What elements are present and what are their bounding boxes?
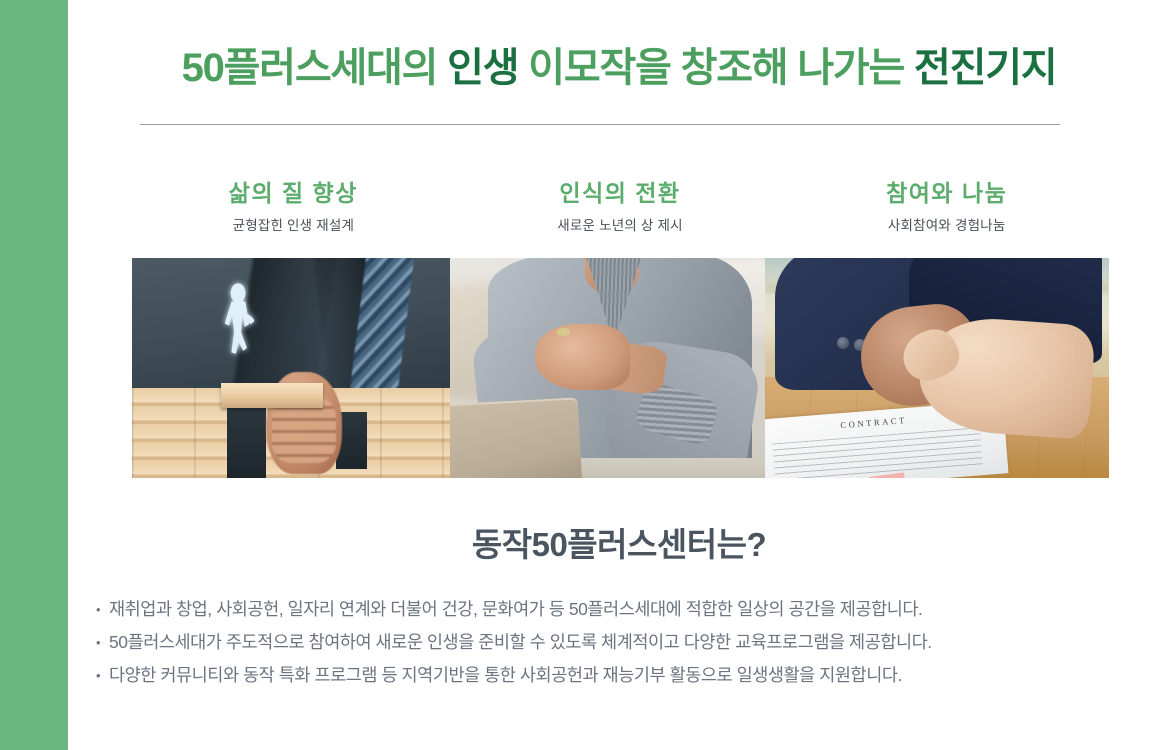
jacket-button: [837, 337, 849, 349]
left-accent-rail: [0, 0, 68, 750]
title-segment-4: 전진기지: [914, 46, 1056, 90]
wall-gap-left: [227, 408, 265, 478]
title-divider: [140, 124, 1060, 125]
about-heading: 동작50플러스센터는?: [68, 518, 1170, 566]
bullet-marker-icon: •: [96, 593, 109, 626]
laptop-screen: [450, 397, 581, 478]
bullet-marker-icon: •: [96, 626, 109, 659]
pillar-subtitle: 사회참여와 경험나눔: [783, 214, 1110, 234]
photo-perception-shift: [450, 258, 765, 478]
pillar-title: 인식의 전환: [457, 178, 784, 209]
pillar-subtitle: 균형잡힌 인생 재설계: [130, 214, 457, 234]
wedding-ring: [557, 328, 570, 335]
glowing-walking-figure-icon: [218, 273, 263, 401]
title-segment-2: 인생: [447, 46, 518, 90]
page-content: 50플러스세대의 인생 이모작을 창조해 나가는 전진기지 삶의 질 향상 균형…: [68, 0, 1170, 750]
page-title: 50플러스세대의 인생 이모작을 창조해 나가는 전진기지: [68, 44, 1170, 92]
senior-man-clasped-hand: [535, 324, 630, 390]
pillar-perception-shift: 인식의 전환 새로운 노년의 상 제시: [457, 178, 784, 234]
wooden-bridge-plank: [221, 383, 323, 407]
pillar-participation-sharing: 참여와 나눔 사회참여와 경험나눔: [783, 178, 1110, 234]
list-item: • 재취업과 창업, 사회공헌, 일자리 연계와 더불어 건강, 문화여가 등 …: [96, 593, 1156, 626]
bullet-marker-icon: •: [96, 659, 109, 692]
photo-quality-of-life: [132, 258, 450, 478]
pillar-subtitle: 새로운 노년의 상 제시: [457, 214, 784, 234]
pillars-row: 삶의 질 향상 균형잡힌 인생 재설계 인식의 전환 새로운 노년의 상 제시 …: [130, 178, 1110, 234]
contract-body-lines: [772, 427, 983, 478]
photo-strip: CONTRACT: [132, 258, 1109, 478]
list-item-text: 재취업과 창업, 사회공헌, 일자리 연계와 더불어 건강, 문화여가 등 50…: [109, 593, 922, 626]
list-item: • 50플러스세대가 주도적으로 참여하여 새로운 인생을 준비할 수 있도록 …: [96, 626, 1156, 659]
list-item-text: 50플러스세대가 주도적으로 참여하여 새로운 인생을 준비할 수 있도록 체계…: [109, 626, 932, 659]
list-item: • 다양한 커뮤니티와 동작 특화 프로그램 등 지역기반을 통한 사회공헌과 …: [96, 659, 1156, 692]
pillar-quality-of-life: 삶의 질 향상 균형잡힌 인생 재설계: [130, 178, 457, 234]
list-item-text: 다양한 커뮤니티와 동작 특화 프로그램 등 지역기반을 통한 사회공헌과 재능…: [109, 659, 902, 692]
pillar-title: 삶의 질 향상: [130, 178, 457, 209]
pillar-title: 참여와 나눔: [783, 178, 1110, 209]
hero-section: 50플러스세대의 인생 이모작을 창조해 나가는 전진기지: [68, 44, 1170, 92]
title-segment-3: 이모작을 창조해 나가는: [518, 46, 914, 90]
title-segment-1: 50플러스세대의: [182, 46, 448, 90]
about-bullet-list: • 재취업과 창업, 사회공헌, 일자리 연계와 더불어 건강, 문화여가 등 …: [96, 593, 1156, 692]
contract-title-text: CONTRACT: [840, 415, 907, 430]
photo-participation-sharing: CONTRACT: [765, 258, 1109, 478]
